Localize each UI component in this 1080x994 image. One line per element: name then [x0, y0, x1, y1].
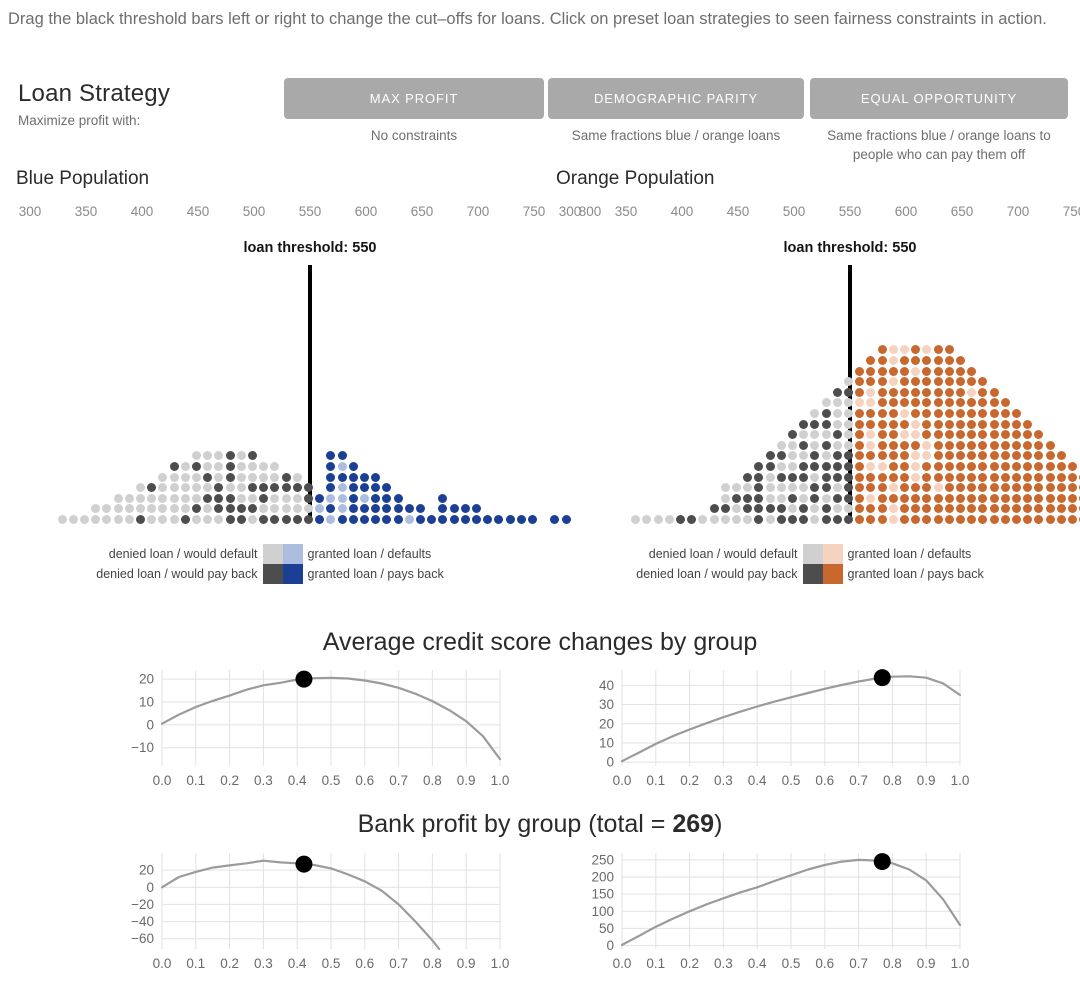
population-dot	[1034, 462, 1043, 471]
population-dot	[1001, 430, 1010, 439]
population-dot	[147, 483, 156, 492]
population-dot	[732, 494, 741, 503]
axis-tick-600: 600	[895, 204, 918, 219]
population-dot	[1068, 473, 1077, 482]
population-dot	[732, 515, 741, 524]
population-dot	[978, 420, 987, 429]
population-dot	[315, 494, 324, 503]
population-dot	[777, 462, 786, 471]
population-dot	[326, 473, 335, 482]
population-dot	[766, 483, 775, 492]
population-dot	[438, 504, 447, 513]
population-dot	[721, 504, 730, 513]
population-dot	[1001, 398, 1010, 407]
population-dot	[810, 473, 819, 482]
population-dot	[237, 515, 246, 524]
blue-legend-swatches	[263, 544, 303, 584]
population-dot	[810, 409, 819, 418]
axis-tick-350: 350	[75, 204, 98, 219]
population-dot	[170, 494, 179, 503]
orange-legend-granted-payback: granted loan / pays back	[848, 564, 984, 584]
population-dot	[934, 451, 943, 460]
population-dot	[990, 473, 999, 482]
population-dot	[91, 515, 100, 524]
svg-text:0: 0	[146, 717, 154, 732]
population-dot	[1023, 504, 1032, 513]
population-dot	[270, 494, 279, 503]
population-dot	[934, 504, 943, 513]
population-dot	[136, 504, 145, 513]
population-dot	[945, 430, 954, 439]
population-dot	[799, 451, 808, 460]
population-dot	[282, 483, 291, 492]
svg-text:1.0: 1.0	[951, 956, 970, 971]
population-dot	[978, 462, 987, 471]
population-dot	[934, 398, 943, 407]
population-dot	[114, 515, 123, 524]
population-dot	[125, 515, 134, 524]
population-dot	[866, 483, 875, 492]
population-dot	[349, 473, 358, 482]
chart-orange-credit-score[interactable]: 0.00.10.20.30.40.50.60.70.80.91.00102030…	[570, 662, 970, 792]
axis-tick-750: 750	[1063, 204, 1080, 219]
population-dot	[338, 504, 347, 513]
population-dot	[1012, 451, 1021, 460]
population-dot	[192, 494, 201, 503]
population-dot	[181, 473, 190, 482]
population-dot	[1023, 494, 1032, 503]
population-dot	[214, 473, 223, 482]
population-dot	[900, 473, 909, 482]
axis-tick-500: 500	[783, 204, 806, 219]
population-dot	[934, 441, 943, 450]
population-dot	[766, 504, 775, 513]
population-dot	[889, 504, 898, 513]
population-dot	[967, 430, 976, 439]
strategy-button-demographic-parity[interactable]: DEMOGRAPHIC PARITY	[548, 78, 804, 119]
axis-tick-650: 650	[411, 204, 434, 219]
population-dot	[922, 388, 931, 397]
population-dot	[777, 504, 786, 513]
population-dot	[978, 483, 987, 492]
orange-legend: denied loan / would default denied loan …	[540, 540, 1080, 588]
population-dot	[911, 504, 920, 513]
population-dot	[844, 451, 853, 460]
population-dot	[956, 356, 965, 365]
svg-text:0.7: 0.7	[849, 956, 868, 971]
population-dot	[911, 356, 920, 365]
svg-text:0.3: 0.3	[254, 956, 273, 971]
population-dot	[259, 504, 268, 513]
chart-marker-dot[interactable]	[874, 669, 891, 686]
population-dot	[822, 451, 831, 460]
population-dot	[270, 504, 279, 513]
population-dot	[282, 494, 291, 503]
strategy-button-equal-opportunity[interactable]: EQUAL OPPORTUNITY	[810, 78, 1068, 119]
population-dot	[270, 473, 279, 482]
population-dot	[1057, 451, 1066, 460]
population-dot	[978, 398, 987, 407]
population-dot	[855, 473, 864, 482]
population-dot	[967, 377, 976, 386]
population-dot	[158, 504, 167, 513]
population-dot	[889, 367, 898, 376]
population-dot	[978, 494, 987, 503]
population-dot	[203, 504, 212, 513]
svg-text:0.5: 0.5	[782, 956, 801, 971]
population-dot	[967, 462, 976, 471]
population-dot	[990, 504, 999, 513]
swatch-denied-default	[803, 544, 823, 564]
population-dot	[855, 462, 864, 471]
population-dot	[956, 388, 965, 397]
population-dot	[125, 504, 134, 513]
population-dot	[844, 504, 853, 513]
svg-text:0.0: 0.0	[153, 773, 172, 788]
strategy-button-max-profit[interactable]: MAX PROFIT	[284, 78, 544, 119]
population-dot	[822, 473, 831, 482]
population-dot	[766, 494, 775, 503]
population-dot	[900, 515, 909, 524]
orange-population-dotplot	[540, 263, 1080, 523]
population-dot	[978, 451, 987, 460]
population-dot	[978, 377, 987, 386]
population-dot	[956, 515, 965, 524]
population-dot	[158, 515, 167, 524]
population-dot	[833, 451, 842, 460]
population-dot	[911, 430, 920, 439]
population-dot	[192, 504, 201, 513]
population-dot	[687, 515, 696, 524]
population-dot	[945, 345, 954, 354]
population-dot	[978, 388, 987, 397]
population-dot	[631, 515, 640, 524]
population-dot	[788, 430, 797, 439]
population-dot	[114, 504, 123, 513]
population-dot	[472, 515, 481, 524]
population-dot	[900, 367, 909, 376]
population-dot	[315, 515, 324, 524]
population-dot	[788, 473, 797, 482]
svg-text:10: 10	[139, 695, 154, 710]
population-dot	[889, 398, 898, 407]
population-dot	[226, 451, 235, 460]
population-dot	[665, 515, 674, 524]
population-dot	[878, 420, 887, 429]
population-dot	[192, 473, 201, 482]
population-dot	[855, 430, 864, 439]
population-dot	[956, 494, 965, 503]
population-dot	[438, 494, 447, 503]
population-dot	[1046, 441, 1055, 450]
blue-population-dotplot	[0, 263, 540, 523]
chart-marker-dot[interactable]	[874, 853, 891, 870]
chart-marker-dot[interactable]	[295, 856, 312, 873]
population-dot	[822, 441, 831, 450]
svg-text:0.7: 0.7	[389, 773, 408, 788]
svg-text:0.7: 0.7	[389, 956, 408, 971]
population-dot	[911, 409, 920, 418]
population-dot	[799, 504, 808, 513]
population-dot	[1012, 462, 1021, 471]
svg-text:0: 0	[146, 880, 154, 895]
population-dot	[978, 473, 987, 482]
population-dot	[1001, 420, 1010, 429]
population-dot	[237, 462, 246, 471]
population-dot	[1001, 441, 1010, 450]
population-dot	[1012, 483, 1021, 492]
population-dot	[1057, 494, 1066, 503]
strategy-desc-max-profit: No constraints	[284, 126, 544, 145]
population-dot	[911, 483, 920, 492]
population-dot	[203, 473, 212, 482]
population-dot	[990, 409, 999, 418]
orange-population-axis: 300350400450500550600650700750800	[540, 204, 1080, 224]
population-dot	[833, 462, 842, 471]
population-dot	[900, 388, 909, 397]
population-dot	[203, 515, 212, 524]
population-dot	[911, 377, 920, 386]
population-dot	[822, 504, 831, 513]
population-dot	[293, 473, 302, 482]
population-dot	[878, 430, 887, 439]
population-dot	[833, 515, 842, 524]
population-dot	[866, 515, 875, 524]
population-dot	[766, 515, 775, 524]
population-dot	[990, 420, 999, 429]
population-dot	[1001, 504, 1010, 513]
population-dot	[990, 515, 999, 524]
svg-text:0.4: 0.4	[748, 773, 767, 788]
orange-population-title: Orange Population	[556, 168, 714, 190]
population-dot	[822, 494, 831, 503]
population-dot	[866, 356, 875, 365]
population-dot	[855, 367, 864, 376]
population-dot	[866, 398, 875, 407]
svg-text:50: 50	[599, 921, 614, 936]
population-dot	[878, 345, 887, 354]
svg-text:0.4: 0.4	[288, 956, 307, 971]
population-dot	[248, 473, 257, 482]
population-dot	[967, 515, 976, 524]
population-dot	[777, 473, 786, 482]
blue-legend-granted-payback: granted loan / pays back	[308, 564, 444, 584]
population-dot	[777, 515, 786, 524]
population-dot	[844, 462, 853, 471]
population-dot	[945, 441, 954, 450]
swatch-denied-payback	[803, 564, 823, 584]
population-dot	[889, 388, 898, 397]
population-dot	[934, 345, 943, 354]
population-dot	[922, 515, 931, 524]
population-dot	[743, 473, 752, 482]
population-dot	[721, 483, 730, 492]
population-dot	[777, 441, 786, 450]
population-dot	[990, 430, 999, 439]
population-dot	[889, 473, 898, 482]
population-dot	[371, 504, 380, 513]
svg-text:−10: −10	[131, 740, 154, 755]
population-dot	[978, 515, 987, 524]
population-dot	[1034, 430, 1043, 439]
population-dot	[900, 377, 909, 386]
population-dot	[822, 515, 831, 524]
population-dot	[788, 441, 797, 450]
axis-tick-300: 300	[559, 204, 582, 219]
population-dot	[237, 473, 246, 482]
population-dot	[226, 504, 235, 513]
population-dot	[642, 515, 651, 524]
population-dot	[1012, 494, 1021, 503]
population-dot	[1057, 483, 1066, 492]
population-dot	[91, 504, 100, 513]
chart-marker-dot[interactable]	[295, 671, 312, 688]
svg-text:0.4: 0.4	[748, 956, 767, 971]
population-dot	[878, 504, 887, 513]
population-dot	[788, 504, 797, 513]
population-dot	[754, 494, 763, 503]
population-dot	[978, 409, 987, 418]
population-dot	[945, 388, 954, 397]
population-dot	[911, 462, 920, 471]
strategy-desc-equal-opportunity: Same fractions blue / orange loans to pe…	[808, 126, 1070, 164]
svg-text:0.5: 0.5	[322, 956, 341, 971]
population-dot	[855, 451, 864, 460]
population-dot	[777, 494, 786, 503]
population-dot	[945, 462, 954, 471]
population-dot	[945, 473, 954, 482]
population-dot	[214, 504, 223, 513]
population-dot	[1046, 504, 1055, 513]
orange-threshold-label: loan threshold: 550	[784, 240, 917, 256]
population-dot	[114, 494, 123, 503]
svg-text:1.0: 1.0	[491, 956, 510, 971]
population-dot	[866, 388, 875, 397]
loan-strategy-panel: Loan Strategy Maximize profit with: MAX …	[0, 78, 1080, 160]
population-dot	[810, 430, 819, 439]
chart-blue-credit-score[interactable]: 0.00.10.20.30.40.50.60.70.80.91.0−100102…	[110, 662, 510, 792]
population-dot	[844, 409, 853, 418]
population-dot	[922, 409, 931, 418]
population-dot	[203, 483, 212, 492]
blue-population-panel: Blue Population 300350400450500550600650…	[0, 168, 540, 598]
population-dot	[889, 430, 898, 439]
population-dot	[934, 494, 943, 503]
axis-tick-550: 550	[299, 204, 322, 219]
population-dot	[1034, 473, 1043, 482]
population-dot	[799, 515, 808, 524]
population-dot	[990, 494, 999, 503]
population-dot	[934, 430, 943, 439]
svg-text:0.6: 0.6	[815, 773, 834, 788]
population-dot	[934, 356, 943, 365]
population-dot	[338, 473, 347, 482]
strategy-desc-demographic-parity: Same fractions blue / orange loans	[545, 126, 807, 145]
population-dot	[226, 473, 235, 482]
population-dot	[743, 504, 752, 513]
population-dot	[810, 504, 819, 513]
population-dot	[259, 483, 268, 492]
population-dot	[754, 462, 763, 471]
population-dot	[338, 515, 347, 524]
population-dot	[1012, 430, 1021, 439]
population-dot	[900, 398, 909, 407]
population-dot	[822, 398, 831, 407]
chart-blue-bank-profit[interactable]: 0.00.10.20.30.40.50.60.70.80.91.0−60−40−…	[110, 845, 510, 975]
intro-instructions: Drag the black threshold bars left or ri…	[8, 4, 1068, 34]
population-dot	[1001, 494, 1010, 503]
chart-orange-bank-profit[interactable]: 0.00.10.20.30.40.50.60.70.80.91.00501001…	[570, 845, 970, 975]
svg-text:1.0: 1.0	[491, 773, 510, 788]
population-dot	[214, 451, 223, 460]
population-dot	[371, 515, 380, 524]
population-dot	[878, 515, 887, 524]
population-dot	[1001, 409, 1010, 418]
population-dot	[833, 430, 842, 439]
svg-text:20: 20	[139, 863, 154, 878]
svg-text:0.3: 0.3	[714, 773, 733, 788]
svg-text:150: 150	[591, 887, 614, 902]
svg-text:0.1: 0.1	[186, 956, 205, 971]
population-dot	[956, 441, 965, 450]
population-dot	[810, 494, 819, 503]
population-dot	[945, 494, 954, 503]
population-dot	[833, 409, 842, 418]
population-dot	[1023, 441, 1032, 450]
blue-legend-denied-payback: denied loan / would pay back	[96, 564, 257, 584]
population-dot	[192, 483, 201, 492]
population-dot	[528, 515, 537, 524]
population-dot	[483, 515, 492, 524]
population-dot	[181, 515, 190, 524]
population-dot	[990, 462, 999, 471]
population-dot	[799, 420, 808, 429]
population-dot	[1001, 515, 1010, 524]
population-dot	[1046, 473, 1055, 482]
population-dot	[1001, 462, 1010, 471]
bank-profit-title-suffix: )	[714, 810, 722, 838]
population-dot	[844, 398, 853, 407]
population-dot	[878, 398, 887, 407]
population-dot	[922, 420, 931, 429]
population-dot	[911, 345, 920, 354]
population-dot	[326, 451, 335, 460]
population-dot	[844, 515, 853, 524]
population-dot	[833, 494, 842, 503]
population-dot	[237, 504, 246, 513]
population-dot	[360, 515, 369, 524]
population-dot	[777, 451, 786, 460]
population-dot	[799, 441, 808, 450]
orange-legend-denied-payback: denied loan / would pay back	[636, 564, 797, 584]
population-dot	[900, 356, 909, 365]
population-dot	[855, 483, 864, 492]
population-dot	[136, 515, 145, 524]
svg-text:0.6: 0.6	[355, 773, 374, 788]
svg-text:0.8: 0.8	[883, 773, 902, 788]
population-dot	[214, 494, 223, 503]
population-dot	[304, 504, 313, 513]
population-dot	[878, 451, 887, 460]
population-dot	[438, 515, 447, 524]
swatch-granted-payback	[823, 564, 843, 584]
population-dot	[371, 473, 380, 482]
svg-text:0.8: 0.8	[423, 773, 442, 788]
population-dot	[878, 356, 887, 365]
population-dot	[866, 377, 875, 386]
population-dot	[934, 388, 943, 397]
population-dot	[1023, 515, 1032, 524]
